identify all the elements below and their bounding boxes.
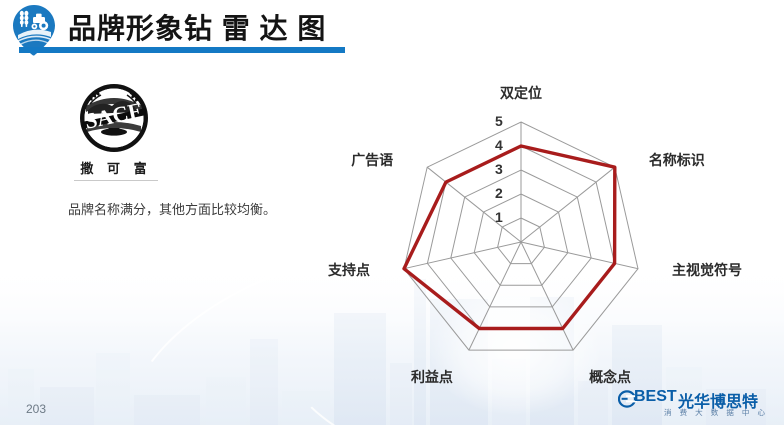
page-number: 203 (26, 402, 46, 416)
radar-axis-label-0: 双定位 (421, 83, 621, 103)
footer-logo-mark-text: BEST (634, 388, 677, 405)
radar-axis-label-4: 利益点 (333, 367, 453, 387)
radar-scale-tick-2: 2 (495, 185, 503, 201)
footer-logo-subtitle: 消 费 大 数 据 中 心 (664, 407, 768, 418)
radar-axis-label-5: 支持点 (250, 260, 370, 280)
radar-chart: 双定位 名称标识 主视觉符号 概念点 利益点 支持点 广告语 1 2 3 4 5 (346, 72, 698, 372)
radar-scale-tick-1: 1 (495, 209, 503, 225)
page-title: 品牌形象钻 雷 达 图 (68, 7, 326, 47)
radar-scale-tick-3: 3 (495, 161, 503, 177)
radar-chart-svg (346, 72, 698, 372)
radar-scale-tick-5: 5 (495, 113, 503, 129)
radar-axes (404, 122, 638, 350)
footer-logo-mark: BEST (634, 388, 677, 406)
brand-description: 品牌名称满分，其他方面比较均衡。 (68, 197, 278, 223)
radar-axis-label-1: 名称标识 (649, 150, 705, 170)
radar-axis-label-3: 概念点 (589, 367, 631, 387)
slide-canvas: 品牌形象钻 雷 达 图 SAC (0, 0, 784, 425)
footer-logo: BEST 光华博思特 消 费 大 数 据 中 心 (618, 388, 770, 418)
title-accent-bar-left (19, 47, 68, 53)
radar-axis-label-6: 广告语 (273, 150, 393, 170)
radar-scale-tick-4: 4 (495, 137, 503, 153)
title-accent-bar (68, 47, 345, 53)
brand-divider (74, 180, 158, 181)
sacf-circular-emblem-icon: SACF (78, 82, 150, 154)
radar-axis-label-2: 主视觉符号 (672, 260, 742, 280)
slide-header: 品牌形象钻 雷 达 图 (0, 0, 784, 58)
brand-name-label: 撒 可 富 (72, 158, 160, 177)
